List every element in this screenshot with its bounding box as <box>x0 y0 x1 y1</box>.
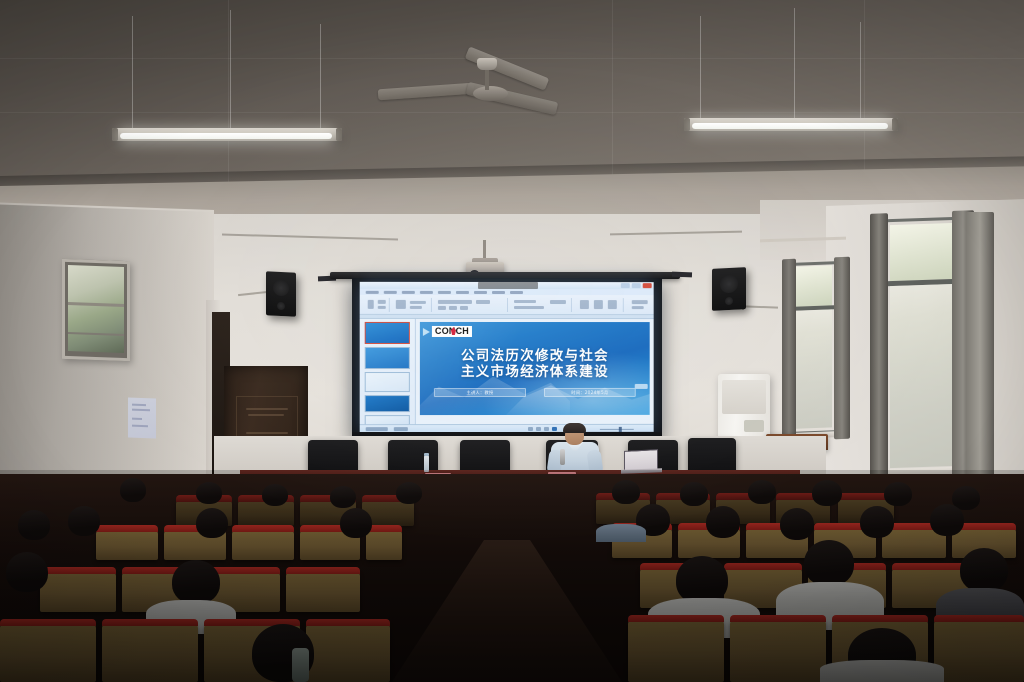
small-window-left <box>62 259 130 361</box>
attendee-shoulders <box>820 660 944 682</box>
water-thermos <box>292 648 309 682</box>
auditorium-seat[interactable] <box>232 530 294 560</box>
window-frame <box>884 217 960 474</box>
slide-thumbnail[interactable] <box>365 372 410 392</box>
attendee-head <box>930 504 964 536</box>
attendee-head <box>680 482 708 506</box>
slide-arrow-icon <box>423 328 430 336</box>
ribbon[interactable] <box>360 295 654 315</box>
powerpoint-window[interactable]: CONCH 公司法历次修改与社会 主义市场经济体系建设 主讲人：教授 时间：20… <box>360 282 654 432</box>
auditorium-seat[interactable] <box>102 624 198 682</box>
fan-ceiling-mount <box>477 58 497 70</box>
wall-speaker-left <box>266 271 296 317</box>
attendee-head <box>860 506 894 538</box>
view-reading-icon[interactable] <box>544 427 549 431</box>
attendee-head <box>172 560 220 604</box>
door-carving <box>246 408 288 410</box>
lecture-hall-photo: CONCH 公司法历次修改与社会 主义市场经济体系建设 主讲人：教授 时间：20… <box>0 0 1024 682</box>
auditorium-seat[interactable] <box>96 530 158 560</box>
close-icon[interactable] <box>643 283 652 288</box>
curtain-left[interactable] <box>870 213 888 482</box>
window-glass <box>68 265 124 353</box>
tall-window-right-far <box>790 261 840 453</box>
attendee-head <box>68 506 100 536</box>
left-wall-shading <box>0 205 214 518</box>
view-slideshow-icon[interactable] <box>552 427 557 431</box>
slide-thumbnail[interactable] <box>365 415 410 424</box>
attendee-head <box>340 508 372 538</box>
auditorium-seat[interactable] <box>366 530 402 560</box>
slide-stage[interactable]: CONCH 公司法历次修改与社会 主义市场经济体系建设 主讲人：教授 时间：20… <box>416 319 654 424</box>
curtain-far-right[interactable] <box>966 212 994 512</box>
curtain-right[interactable] <box>834 257 850 440</box>
attendee-head <box>960 548 1008 592</box>
slide-thumbnail[interactable] <box>365 322 410 344</box>
door-carving <box>246 432 288 434</box>
presenter-hair <box>563 423 586 433</box>
bottle-cap <box>424 453 429 456</box>
view-sorter-icon[interactable] <box>536 427 541 431</box>
auditorium-seat[interactable] <box>934 620 1024 682</box>
auditorium-seat[interactable] <box>306 624 390 682</box>
attendee-head <box>780 508 814 540</box>
auditorium-seat[interactable] <box>730 620 826 682</box>
attendee-head <box>330 486 356 508</box>
window-frame <box>792 261 838 435</box>
auditorium-seat[interactable] <box>628 620 724 682</box>
ppt-document-name <box>478 282 538 289</box>
tab-slideshow[interactable] <box>474 290 487 293</box>
slide-thumbnail[interactable] <box>365 395 410 412</box>
slide-thumbnail[interactable] <box>365 347 410 369</box>
attendee-head <box>396 482 422 504</box>
attendee-head <box>120 478 146 502</box>
slide-subtitle-presenter: 主讲人：教授 <box>434 388 526 397</box>
attendee-head <box>812 480 842 506</box>
tab-transitions[interactable] <box>438 290 451 293</box>
fan-hub <box>473 86 508 101</box>
view-normal-icon[interactable] <box>528 427 533 431</box>
attendee-head <box>706 506 740 538</box>
status-language <box>394 427 408 431</box>
wall-poster <box>128 398 156 439</box>
slide-title: 公司法历次修改与社会 主义市场经济体系建设 <box>420 348 650 380</box>
slide-thumbnail-pane[interactable] <box>360 319 416 424</box>
fluorescent-light-left <box>112 128 342 142</box>
ac-control-panel[interactable] <box>744 420 764 432</box>
attendee-head <box>748 480 776 504</box>
slide-title-line-1: 公司法历次修改与社会 <box>420 348 650 364</box>
fan-blade <box>378 83 475 101</box>
auditorium-seat[interactable] <box>0 624 96 682</box>
attendee-shoulders <box>596 524 646 542</box>
attendee-head <box>884 482 912 506</box>
attendee-head <box>676 556 728 604</box>
tab-file[interactable] <box>366 290 379 293</box>
slide-subtitle-date: 时间：2024年5月 <box>544 388 636 397</box>
current-slide[interactable]: CONCH 公司法历次修改与社会 主义市场经济体系建设 主讲人：教授 时间：20… <box>420 322 650 415</box>
board-rail <box>672 272 692 278</box>
attendee-head <box>18 510 50 540</box>
slide-corner-badge <box>635 384 648 389</box>
attendee-head <box>804 540 854 586</box>
attendee-head <box>612 480 640 504</box>
tab-insert[interactable] <box>402 290 415 293</box>
tab-view[interactable] <box>510 291 523 294</box>
attendee-head <box>262 484 288 506</box>
tab-design[interactable] <box>420 290 433 293</box>
ppt-status-bar[interactable] <box>360 424 654 432</box>
window-controls[interactable] <box>621 283 652 288</box>
status-slide-count <box>366 427 388 431</box>
tall-window-right-near <box>880 216 966 491</box>
attendee-head <box>196 482 222 504</box>
auditorium-seat[interactable] <box>40 572 116 612</box>
zoom-slider[interactable] <box>600 429 634 430</box>
attendee-head <box>196 508 228 538</box>
microphone-icon <box>560 449 565 465</box>
tab-review[interactable] <box>492 290 505 293</box>
fluorescent-light-right <box>684 118 898 132</box>
ac-grill <box>722 380 766 414</box>
auditorium-seat[interactable] <box>286 572 360 612</box>
attendee-head <box>6 552 48 592</box>
curtain-left[interactable] <box>782 259 796 442</box>
tab-animations[interactable] <box>456 290 469 293</box>
ceiling-fan <box>378 58 546 120</box>
water-bottle <box>424 455 429 472</box>
door-carving <box>248 414 284 416</box>
restore-icon[interactable] <box>632 283 641 288</box>
slide-title-line-2: 主义市场经济体系建设 <box>420 364 650 380</box>
minimize-icon[interactable] <box>621 283 630 288</box>
slide-subtitle-row: 主讲人：教授 时间：2024年5月 <box>434 388 636 397</box>
tab-home[interactable] <box>384 290 397 293</box>
wall-speaker-right <box>712 267 746 311</box>
